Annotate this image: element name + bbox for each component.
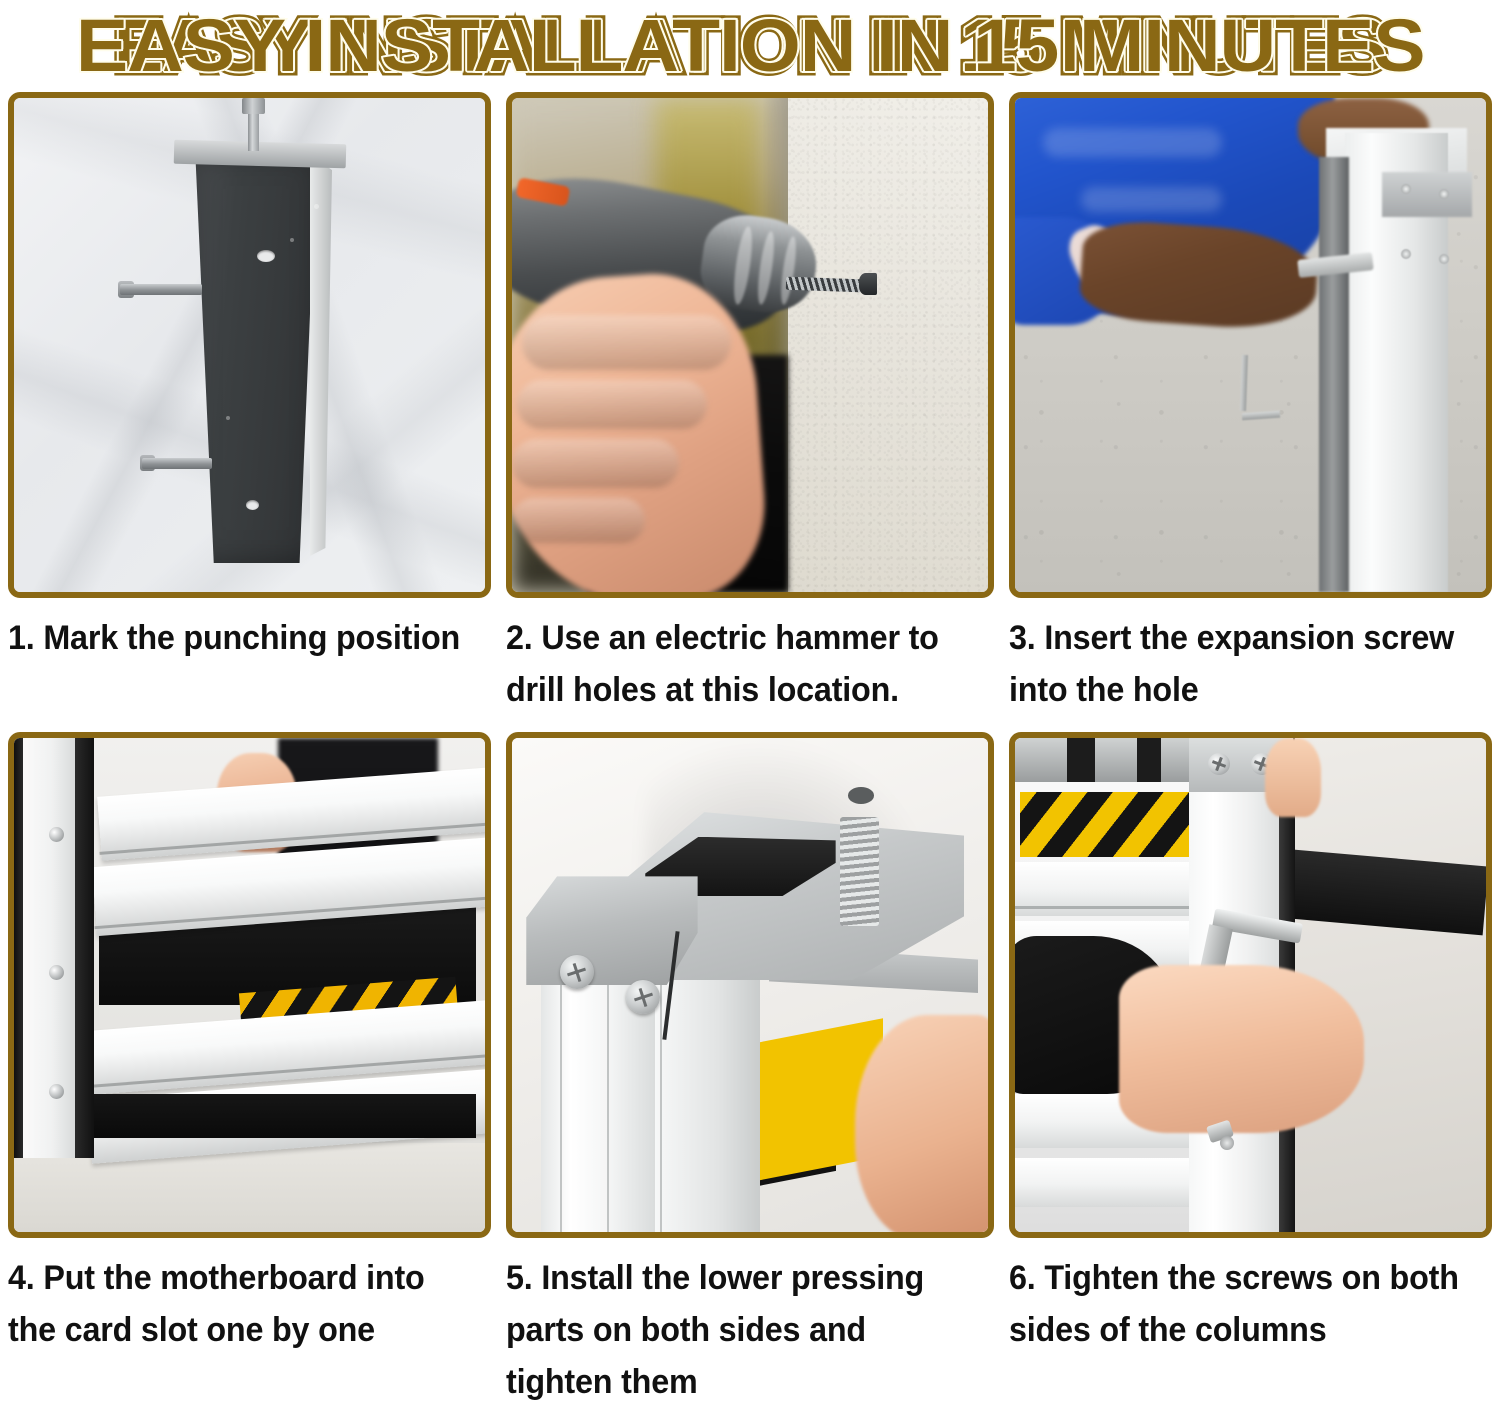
step-5-photo-install-pressing-parts bbox=[506, 732, 994, 1238]
step-card-6: 6. Tighten the screws on both sides of t… bbox=[1000, 732, 1500, 1408]
banner-title-bar: EASY INSTALLATION IN 15 MINUTES EASY INS… bbox=[0, 0, 1500, 92]
page-title: EASY INSTALLATION IN 15 MINUTES EASY INS… bbox=[114, 7, 1386, 85]
steps-grid: 1. Mark the punching position bbox=[0, 92, 1500, 1408]
step-3-caption: 3. Insert the expansion screw into the h… bbox=[1009, 598, 1468, 732]
steps-row-1: 1. Mark the punching position bbox=[0, 92, 1500, 732]
step-3-photo-insert-expansion-screw bbox=[1009, 92, 1492, 598]
step-5-caption: 5. Install the lower pressing parts on b… bbox=[506, 1238, 970, 1408]
step-1-photo-mark-punching-position bbox=[8, 92, 491, 598]
steps-row-2: 4. Put the motherboard into the card slo… bbox=[0, 732, 1500, 1408]
step-6-caption: 6. Tighten the screws on both sides of t… bbox=[1009, 1238, 1468, 1402]
step-card-3: 3. Insert the expansion screw into the h… bbox=[1000, 92, 1500, 732]
page-title-fill: EASY INSTALLATION IN 15 MINUTES bbox=[76, 7, 1425, 85]
step-card-2: 2. Use an electric hammer to drill holes… bbox=[500, 92, 1000, 732]
step-2-caption: 2. Use an electric hammer to drill holes… bbox=[506, 598, 970, 732]
step-6-photo-tighten-screws bbox=[1009, 732, 1492, 1238]
step-4-caption: 4. Put the motherboard into the card slo… bbox=[8, 1238, 467, 1402]
step-card-5: 5. Install the lower pressing parts on b… bbox=[500, 732, 1000, 1408]
step-1-caption: 1. Mark the punching position bbox=[8, 598, 467, 732]
step-card-4: 4. Put the motherboard into the card slo… bbox=[0, 732, 500, 1408]
step-2-photo-drill-holes bbox=[506, 92, 994, 598]
step-4-photo-insert-boards-into-slot bbox=[8, 732, 491, 1238]
step-card-1: 1. Mark the punching position bbox=[0, 92, 500, 732]
